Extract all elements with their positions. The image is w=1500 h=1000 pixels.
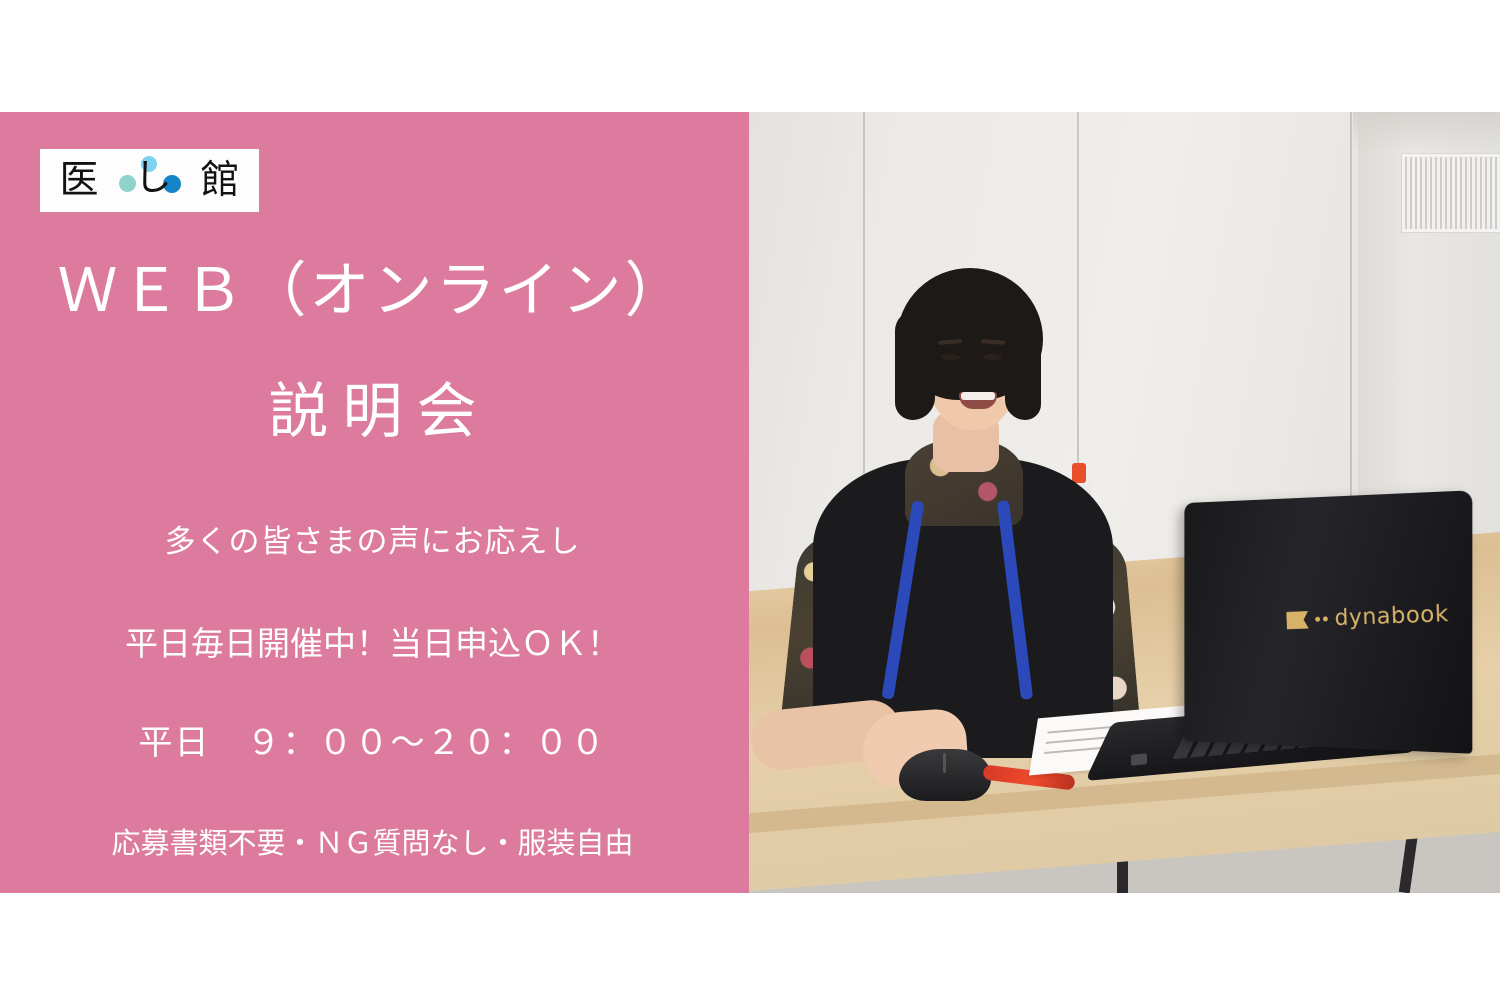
body-copy-group: 多くの皆さまの声にお応えし 平日毎日開催中！当日申込ＯＫ！ 平日 ９：００〜２０… <box>0 516 745 862</box>
brand-logo: 医 し 館 <box>40 149 259 212</box>
photo-panel: dynabook <box>745 112 1500 893</box>
teeth <box>961 392 995 400</box>
computer-mouse <box>899 749 991 801</box>
laptop-port <box>1131 753 1147 766</box>
dynabook-dots-icon <box>1315 616 1328 621</box>
banner-root: 医 し 館 ＷＥＢ（オンライン） 説明会 多くの皆さまの声にお応えし 平日毎日開… <box>0 112 1500 893</box>
headline-primary: ＷＥＢ（オンライン） <box>0 260 745 323</box>
laptop: dynabook <box>1085 491 1485 781</box>
laptop-lid: dynabook <box>1184 490 1472 753</box>
logo-kanji-mid: し <box>135 159 172 196</box>
hair-side-left <box>895 310 935 420</box>
body-line-4: 応募書類不要・ＮＧ質問なし・服装自由 <box>0 820 745 862</box>
headline-group: ＷＥＢ（オンライン） 説明会 <box>0 260 745 444</box>
woman-figure <box>793 238 1133 758</box>
eye-left <box>941 354 960 360</box>
ceiling-shadow <box>1353 112 1500 152</box>
wall-vent-icon <box>1402 154 1500 232</box>
headline-secondary: 説明会 <box>0 381 745 444</box>
dynabook-wordmark: dynabook <box>1334 601 1449 631</box>
hair-side-right <box>1005 310 1041 420</box>
body-line-3: 平日 ９：００〜２０：００ <box>0 715 745 764</box>
pink-info-panel: 医 し 館 ＷＥＢ（オンライン） 説明会 多くの皆さまの声にお応えし 平日毎日開… <box>0 112 745 893</box>
mouse-button-split <box>943 753 946 773</box>
logo-kanji-right: 館 <box>200 161 239 200</box>
logo-mark-dots: し <box>119 157 181 205</box>
dynabook-logo: dynabook <box>1286 601 1449 632</box>
dynabook-mark-icon <box>1286 611 1309 630</box>
logo-dot-left-icon <box>119 175 136 192</box>
eye-right <box>983 354 1002 360</box>
brand-logo-inner: 医 し 館 <box>60 157 240 205</box>
body-line-1: 多くの皆さまの声にお応えし <box>0 516 745 561</box>
logo-kanji-left: 医 <box>60 161 99 200</box>
panel-divider <box>745 112 749 893</box>
body-line-2: 平日毎日開催中！当日申込ＯＫ！ <box>0 617 745 665</box>
head <box>897 268 1043 448</box>
